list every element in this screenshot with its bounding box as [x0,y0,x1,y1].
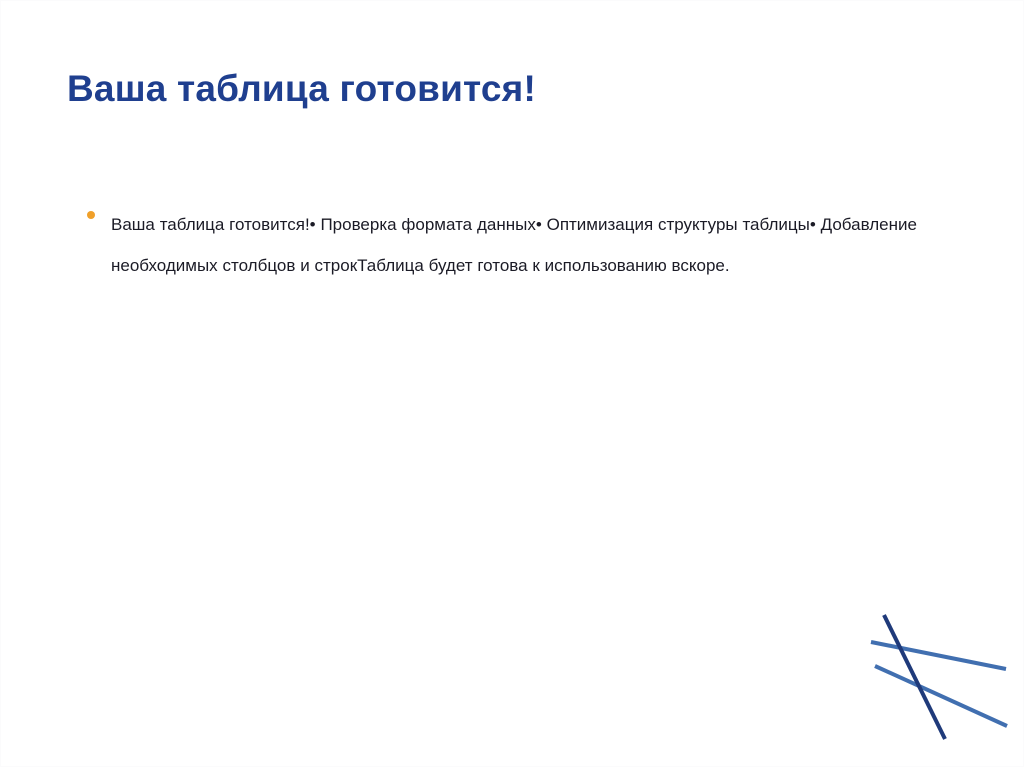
bullet-list-item: Ваша таблица готовится!• Проверка формат… [85,204,961,286]
bullet-item-text: Ваша таблица готовится!• Проверка формат… [111,204,961,286]
bullet-dot-icon [87,211,95,219]
upper-blue-line [871,642,1006,669]
slide-title: Ваша таблица готовится! [67,66,967,112]
slide-body: Ваша таблица готовится!• Проверка формат… [85,204,961,286]
dark-steep-line [884,615,945,739]
lower-blue-line [875,666,1007,726]
presentation-slide: Ваша таблица готовится! Ваша таблица гот… [0,0,1024,767]
crossed-diagonal-lines-decoration [841,581,1024,767]
